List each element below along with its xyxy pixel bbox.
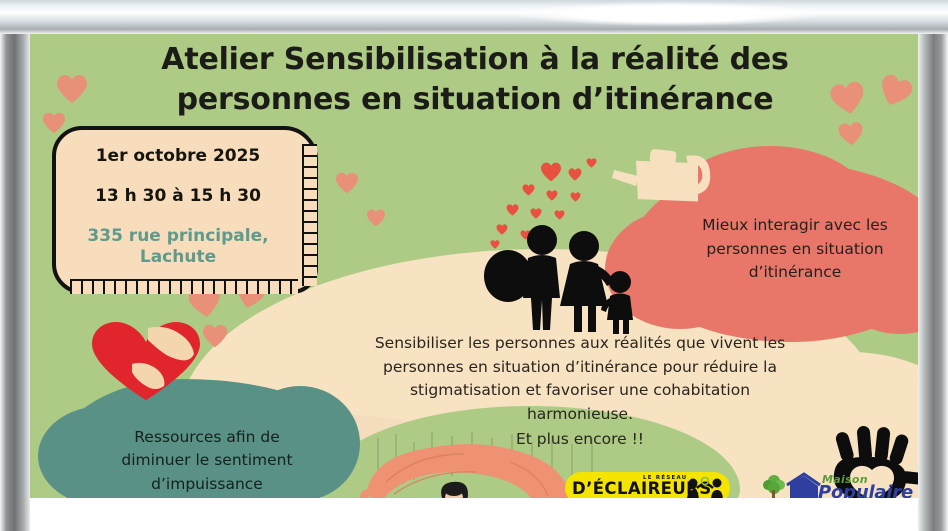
- event-date: 1er octobre 2025: [56, 146, 300, 166]
- family-silhouette-icon: [480, 224, 640, 338]
- stitch-decoration-bottom: [70, 279, 298, 294]
- teal-text-line-1: Ressources afin de: [92, 426, 322, 449]
- description-text: Sensibiliser les personnes aux réalités …: [360, 332, 800, 452]
- description-line-2: personnes en situation d’itinérance pour…: [360, 356, 800, 380]
- heart-icon: [530, 208, 542, 219]
- teal-text-line-2: diminuer le sentiment: [92, 449, 322, 472]
- logo-maison-word-2: Populaire: [818, 482, 913, 498]
- description-line-5: Et plus encore !!: [360, 428, 800, 452]
- coral-bubble-text: Mieux interagir avec les personnes en si…: [650, 214, 918, 285]
- slide-frame-gloss: [520, 2, 820, 26]
- heart-icon: [42, 112, 66, 134]
- page-title: Atelier Sensibilisation à la réalité des…: [90, 40, 860, 119]
- heart-icon: [506, 204, 519, 216]
- watering-can-icon: [608, 146, 720, 222]
- heart-in-hands-icon: [86, 320, 210, 408]
- heart-icon: [546, 190, 558, 201]
- stitch-decoration-right: [302, 144, 317, 286]
- teal-text-line-3: d’impuissance: [92, 473, 322, 496]
- description-line-4: harmonieuse.: [360, 403, 800, 427]
- slide-frame-right: [918, 0, 948, 531]
- event-address-line-2: Lachute: [56, 247, 300, 268]
- poster-card: Atelier Sensibilisation à la réalité des…: [30, 34, 918, 498]
- event-details-box: 1er octobre 2025 13 h 30 à 15 h 30 335 r…: [52, 126, 318, 294]
- heart-icon: [540, 162, 562, 182]
- two-people-icon: [685, 476, 727, 498]
- heart-icon: [335, 172, 359, 194]
- slide-canvas: Atelier Sensibilisation à la réalité des…: [0, 0, 948, 531]
- heart-icon: [554, 210, 565, 220]
- logo-maison-populaire: Maison Populaire d’Argenteuil direction@…: [760, 472, 918, 498]
- slide-frame-left: [0, 0, 30, 531]
- heart-icon: [586, 158, 597, 168]
- teal-bubble-text: Ressources afin de diminuer le sentiment…: [92, 426, 322, 496]
- coral-text-line-3: d’itinérance: [650, 261, 918, 285]
- heart-icon: [366, 209, 386, 227]
- heart-icon: [56, 74, 88, 104]
- logo-reseau-eclaireurs: LE RÉSEAU D’ÉCLAIREURS: [565, 472, 730, 498]
- heart-icon: [837, 121, 865, 148]
- tree-and-house-icon: [760, 472, 822, 498]
- heart-icon: [522, 184, 535, 196]
- coral-text-line-1: Mieux interagir avec les: [650, 214, 918, 238]
- coral-text-line-2: personnes en situation: [650, 238, 918, 262]
- description-line-1: Sensibiliser les personnes aux réalités …: [360, 332, 800, 356]
- description-line-3: stigmatisation et favoriser une cohabita…: [360, 379, 800, 403]
- heart-icon: [873, 71, 916, 112]
- title-line-1: Atelier Sensibilisation à la réalité des: [90, 40, 860, 80]
- heart-icon: [568, 168, 582, 181]
- heart-icon: [570, 192, 581, 202]
- event-time: 13 h 30 à 15 h 30: [56, 186, 300, 206]
- title-line-2: personnes en situation d’itinérance: [90, 80, 860, 120]
- event-address-line-1: 335 rue principale,: [56, 226, 300, 247]
